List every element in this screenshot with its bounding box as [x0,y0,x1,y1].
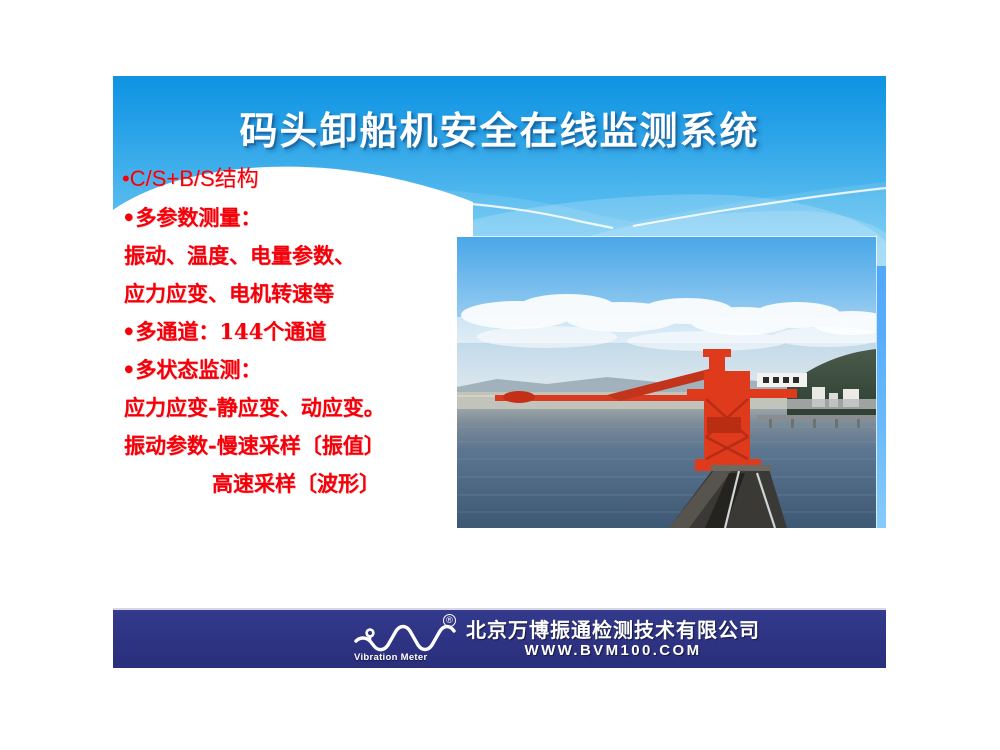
company-website: WWW.BVM100.COM [466,642,760,659]
footer-content: ® Vibration Meter 北京万博振通检测技术有限公司 WWW.BVM… [350,615,760,663]
list-item: •C/S+B/S结构 [122,168,472,190]
vibration-meter-wave-logo-icon: ® Vibration Meter [350,615,458,663]
slide-canvas: 码头卸船机安全在线监测系统 •C/S+B/S结构 •多参数测量： 振动、温度、电… [0,0,1000,750]
list-item: 应力应变-静应变、动应变。 [122,397,472,418]
list-item-label: 多通道：144个通道 [135,319,326,344]
port-ship-unloader-photo [457,237,876,528]
bullet-marker: • [122,205,135,230]
footer-bar: ® Vibration Meter 北京万博振通检测技术有限公司 WWW.BVM… [113,608,886,668]
list-item: •多通道：144个通道 [122,321,472,342]
list-item-label: 多参数测量： [135,205,261,230]
bullet-marker: • [122,319,135,344]
bullet-marker: • [122,357,135,382]
bullet-marker: • [122,166,130,191]
registered-trademark-icon: ® [443,614,456,627]
list-item: 应力应变、电机转速等 [122,283,472,304]
page-title: 码头卸船机安全在线监测系统 [113,100,886,155]
list-item-label: 多状态监测： [135,357,261,382]
list-item-label: 振动、温度、电量参数、 [124,243,355,268]
list-item: 高速采样〔波形〕 [122,473,472,494]
bullet-list: •C/S+B/S结构 •多参数测量： 振动、温度、电量参数、 应力应变、电机转速… [122,168,472,511]
list-item: •多状态监测： [122,359,472,380]
list-item-label: 应力应变、电机转速等 [124,281,334,306]
list-item: •多参数测量： [122,207,472,228]
list-item-label: 高速采样〔波形〕 [212,471,380,496]
list-item: 振动、温度、电量参数、 [122,245,472,266]
footer-texts: 北京万博振通检测技术有限公司 WWW.BVM100.COM [466,620,760,659]
list-item-label: 应力应变-静应变、动应变。 [124,395,385,420]
logo-caption: Vibration Meter [354,652,427,663]
company-name: 北京万博振通检测技术有限公司 [466,620,760,641]
list-item-label: 振动参数-慢速采样〔振值〕 [124,433,385,458]
list-item-label: C/S+B/S结构 [130,166,259,191]
list-item: 振动参数-慢速采样〔振值〕 [122,435,472,456]
